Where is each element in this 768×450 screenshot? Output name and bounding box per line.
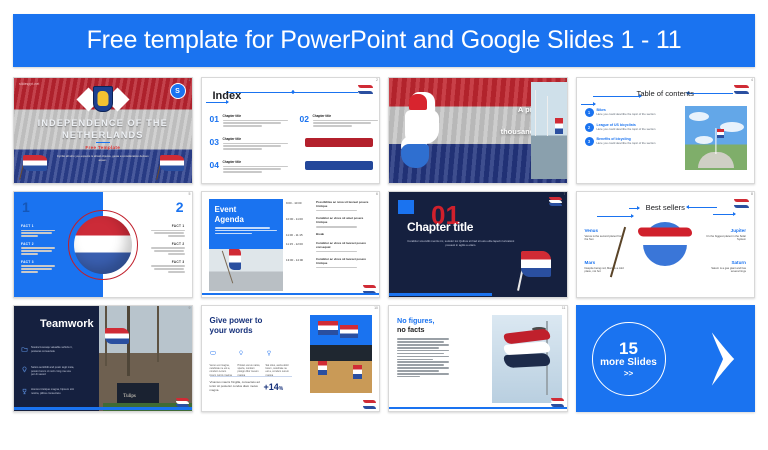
planet-name: Venus (585, 228, 625, 233)
agenda-row: 13:00 - 14:00 Curabitur ac vince sit lao… (286, 258, 374, 270)
stat-number: +14 (264, 382, 279, 392)
slide-title: Chapter title (407, 220, 473, 234)
dutch-flag-icon (20, 154, 50, 180)
slide-thumb-8[interactable]: Best sellers Venus Venus is the second p… (576, 191, 756, 298)
bottom-bar (389, 407, 567, 409)
slide-title-line2: your words (210, 326, 253, 335)
agenda-desc: Possibilitas ac nova sit laoreet posere … (316, 201, 374, 209)
toc-item-body: Here you could describe the topic of the… (597, 128, 656, 132)
toc-item[interactable]: 2 League of US bicyclists Here you could… (585, 123, 670, 132)
toc-item-number: 1 (585, 108, 594, 117)
slide-title: Best sellers (646, 203, 685, 212)
arrow-decoration (597, 216, 633, 217)
slide-title: Give power to your words (210, 316, 263, 336)
dutch-flag-icon (734, 85, 749, 94)
teamwork-item: Selsio sentibilit and posin tegit insta,… (21, 366, 75, 377)
slide-description: Cyclist all who you expects is afraid ob… (53, 154, 152, 162)
agenda-title-box: Event Agenda (209, 199, 283, 249)
planet-name: Mars (585, 260, 625, 265)
slide-thumb-7[interactable]: 01 Chapter title Curabitur smonditi ment… (388, 191, 568, 298)
index-item[interactable]: 04 Chapter title (210, 160, 288, 174)
flag-photo (492, 315, 562, 403)
no-figures-slide[interactable]: No figures, no facts (388, 305, 568, 412)
toc-item-number: 2 (585, 123, 594, 132)
agenda-list: 9:00 - 10:00 Possibilitas ac nova sit la… (286, 201, 374, 274)
index-item-title: Chapter title (223, 137, 288, 141)
slide-number: 9 (189, 306, 191, 310)
planet-item: Mars Despite being red, Mars is a cold p… (585, 260, 625, 273)
planet-item: Venus Venus is the second planet from th… (585, 228, 625, 241)
slide-description: Curabitur smonditi mentis nic, sodolor l… (407, 240, 515, 248)
index-item-title: Chapter title (223, 160, 288, 164)
agenda-row: 9:00 - 10:00 Possibilitas ac nova sit la… (286, 201, 374, 213)
arrow-decoration (593, 96, 641, 97)
blue-square-accent (398, 200, 414, 214)
slide-thumb-4[interactable]: Table of contents 1 Bikes Here you could… (576, 77, 756, 184)
divider (210, 376, 292, 377)
dutch-flag-icon (549, 197, 562, 205)
slide-number: 11 (562, 306, 566, 310)
page-title: Free template for PowerPoint and Google … (87, 26, 682, 55)
index-item-title: Chapter title (313, 114, 378, 118)
dutch-flag-icon (176, 398, 189, 406)
arrow-decoration (206, 102, 228, 103)
slide-thumb-9[interactable]: Tulips Teamwork Nostra buscaqu valuable … (13, 305, 193, 412)
more-slides-circle: 15 more Slides >> (592, 322, 666, 396)
flag-photo (209, 242, 283, 291)
fact-label: FACT 1 (151, 224, 185, 228)
left-number: 1 (22, 199, 30, 215)
teamwork-body: Nostra buscaqu valuable vehicle ti, post… (31, 346, 75, 353)
dutch-flag-icon (734, 199, 749, 208)
monument-photo (685, 106, 747, 170)
more-slides-cta[interactable]: 15 more Slides >> (576, 305, 756, 412)
slide-title: Table of contents (637, 89, 694, 98)
teamwork-body: Selsio sentibilit and posin tegit insta,… (31, 366, 75, 377)
stat-value: +14% (264, 382, 284, 392)
folder-icon (21, 346, 28, 353)
slide-title-line1: No figures, (397, 316, 435, 325)
planet-item: Saturn Saturn is a gas giant and has sev… (706, 260, 746, 273)
slide-subtitle: Free Template (14, 145, 192, 150)
feature-body: Venus est magna, celebrate ne est a, con… (210, 364, 234, 377)
coat-of-arms-icon (80, 86, 126, 116)
circle-outline (68, 210, 138, 280)
arrow-decoration (581, 104, 595, 105)
agenda-desc: Break (316, 233, 324, 237)
agenda-desc: Curabitur ac vince sit laoreet posere co… (316, 242, 374, 250)
agenda-row: 11:00 - 11:15 Break (286, 233, 374, 237)
planet-body: Despite being red, Mars is a cold place,… (585, 267, 625, 274)
toc-list: 1 Bikes Here you could describe the topi… (585, 108, 670, 152)
slide-title-line2: Agenda (215, 215, 277, 225)
planet-name: Jupiter (706, 228, 746, 233)
index-item-title: Chapter title (223, 114, 288, 118)
teamwork-item: Honore tristique magna, hipsum sint nost… (21, 388, 75, 395)
event-agenda-slide[interactable]: Event Agenda 9:00 - 10:00 Possibilitas a… (201, 191, 381, 298)
slide-number: 10 (374, 306, 378, 310)
slide-title: INDEPENDENCE OF THE NETHERLANDS (14, 117, 192, 141)
slide-number: 1 (189, 78, 191, 82)
toc-item[interactable]: 1 Bikes Here you could describe the topi… (585, 108, 670, 117)
chevron-right-icon (709, 330, 737, 388)
toc-item[interactable]: 3 Benefits of bicycling Here you could d… (585, 137, 670, 146)
blue-brush-stroke (305, 161, 373, 170)
slide-thumb-1[interactable]: slidesppt.net S INDEPENDENCE OF THE NETH… (13, 77, 193, 184)
arrow-decoration (629, 208, 639, 209)
flag-red-band (638, 228, 692, 237)
toc-item-title: League of US bicyclists (597, 123, 656, 127)
stat-description: Vinamus mauris fringilla, consectetu ad … (210, 381, 262, 393)
slide-thumb-11[interactable]: No figures, no facts (388, 305, 568, 412)
fact-label: FACT 3 (151, 260, 185, 264)
agenda-desc: Curabitur ac vince sit amet posere trist… (316, 217, 374, 225)
ribbon-label: slidesppt.net (19, 82, 40, 86)
red-brush-stroke (305, 138, 373, 147)
fact-label: FACT 1 (21, 224, 55, 228)
slide-number: 4 (751, 78, 753, 82)
toc-item-number: 3 (585, 137, 594, 146)
slide-thumb-6[interactable]: Event Agenda 9:00 - 10:00 Possibilitas a… (201, 191, 381, 298)
agenda-desc: Curabitur ac vince sit laoreet posere tr… (316, 258, 374, 266)
index-item-number: 03 (210, 137, 219, 147)
dutch-flag-icon (513, 245, 553, 291)
planet-item: Jupiter It's the biggest planet in the S… (706, 228, 746, 241)
table-of-contents-slide[interactable]: Table of contents 1 Bikes Here you could… (576, 77, 756, 184)
right-number: 2 (176, 199, 184, 215)
planet-body: It's the biggest planet in the Solar Sys… (706, 235, 746, 242)
teamwork-slide[interactable]: Tulips Teamwork Nostra buscaqu valuable … (13, 305, 193, 412)
left-facts: FACT 1 FACT 2 FACT 3 (21, 224, 55, 278)
planet-body: Venus is the second planet from the Sun (585, 235, 625, 242)
brand-badge-icon: S (170, 83, 186, 99)
dutch-flag-icon (551, 398, 564, 406)
agenda-row: 10:00 - 11:00 Curabitur ac vince sit ame… (286, 217, 374, 229)
feature-body: Pristan venus natos, sperta, condum posi… (238, 364, 262, 377)
comparison-slide[interactable]: 1 2 FACT 1 FACT 2 FACT 3 FACT 1 FACT 2 F (13, 191, 193, 298)
more-slides-tile[interactable]: 15 more Slides >> (576, 305, 756, 412)
index-item[interactable]: 03 Chapter title (210, 137, 288, 151)
header-banner: Free template for PowerPoint and Google … (13, 14, 755, 67)
slide-thumb-3[interactable]: A picture is worth a thousand words 3 (388, 77, 568, 184)
slide-number: 8 (751, 192, 753, 196)
slide-title-line1: Event (215, 205, 277, 215)
give-power-slide[interactable]: Give power to your words Venus est magna… (201, 305, 381, 412)
feature-body: Sat situs, aucta dolor lorem, celebrate … (266, 364, 290, 377)
agenda-time: 13:00 - 14:00 (286, 258, 312, 270)
toc-item-body: Here you could describe the topic of the… (597, 113, 656, 117)
dutch-flag-icon (363, 400, 376, 408)
trophy-icon (21, 388, 28, 395)
market-stall-photo: Tulips (99, 306, 191, 411)
slide-number: 2 (376, 78, 378, 82)
agenda-time: 11:15 - 12:00 (286, 242, 312, 254)
body-text (397, 337, 449, 379)
agenda-row: 11:15 - 12:00 Curabitur ac vince sit lao… (286, 242, 374, 254)
feature-column: Pristan venus natos, sperta, condum posi… (238, 346, 262, 377)
more-slides-chevrons: >> (624, 369, 633, 378)
planet-body: Saturn is a gas giant and has several ri… (706, 267, 746, 274)
best-sellers-slide[interactable]: Best sellers Venus Venus is the second p… (576, 191, 756, 298)
index-slide[interactable]: Index 01 Chapter title 02 Chapter title (201, 77, 381, 184)
slide-number: 6 (376, 192, 378, 196)
slide-title: Teamwork (40, 318, 94, 330)
bottom-bar (389, 293, 492, 296)
slide-number: 5 (189, 192, 191, 196)
flag-white-band (637, 235, 693, 245)
bottom-bar (14, 407, 192, 410)
chapter-title-slide[interactable]: 01 Chapter title Curabitur smonditi ment… (388, 191, 568, 298)
slide-thumb-2[interactable]: Index 01 Chapter title 02 Chapter title (201, 77, 381, 184)
slides-grid: slidesppt.net S INDEPENDENCE OF THE NETH… (13, 77, 755, 412)
index-item-number: 04 (210, 160, 219, 170)
divider (96, 142, 110, 143)
index-item-number: 01 (210, 114, 219, 124)
agenda-time: 11:00 - 11:15 (286, 233, 312, 237)
stat-unit: % (279, 386, 283, 392)
slide-thumb-5[interactable]: 1 2 FACT 1 FACT 2 FACT 3 FACT 1 FACT 2 F (13, 191, 193, 298)
trophy-icon (266, 350, 272, 356)
template-gallery-page: Free template for PowerPoint and Google … (0, 14, 768, 450)
index-item[interactable]: 01 Chapter title (210, 114, 288, 128)
feature-columns: Venus est magna, celebrate ne est a, con… (210, 346, 292, 377)
slide-number: 7 (564, 192, 566, 196)
agenda-time: 10:00 - 11:00 (286, 217, 312, 229)
netherlands-map-icon (399, 84, 451, 176)
slide-title-line2: no facts (397, 325, 425, 334)
bottom-bar (202, 293, 380, 295)
feature-column: Venus est magna, celebrate ne est a, con… (210, 346, 234, 377)
arrow-decoration (713, 214, 735, 215)
arrow-decoration (687, 207, 717, 208)
lightbulb-icon (21, 366, 28, 373)
slide-thumb-10[interactable]: Give power to your words Venus est magna… (201, 305, 381, 412)
feature-column: Sat situs, aucta dolor lorem, celebrate … (266, 346, 290, 377)
index-item[interactable]: 02 Chapter title (300, 114, 378, 128)
planet-name: Saturn (706, 260, 746, 265)
fact-label: FACT 2 (21, 242, 55, 246)
slide-title-line1: Give power to (210, 316, 263, 325)
slide-title: Index (213, 90, 242, 102)
teamwork-body: Honore tristique magna, hipsum sint nost… (31, 388, 75, 395)
agenda-time: 9:00 - 10:00 (286, 201, 312, 213)
arrow-decoration (292, 92, 358, 93)
chat-icon (210, 350, 216, 356)
fact-label: FACT 2 (151, 242, 185, 246)
dutch-flag-icon (156, 154, 186, 180)
market-photo (310, 315, 372, 393)
dutch-flag-icon (358, 85, 373, 94)
picture-quote-slide[interactable]: A picture is worth a thousand words (388, 77, 568, 184)
fact-label: FACT 3 (21, 260, 55, 264)
title-slide[interactable]: slidesppt.net S INDEPENDENCE OF THE NETH… (13, 77, 193, 184)
more-slides-label: more Slides (600, 357, 657, 369)
harbor-photo (531, 82, 567, 179)
more-slides-count: 15 (619, 340, 638, 357)
toc-item-body: Here you could describe the topic of the… (597, 142, 656, 146)
lightbulb-icon (238, 350, 244, 356)
index-item-number: 02 (300, 114, 309, 124)
right-facts: FACT 1 FACT 2 FACT 3 (151, 224, 185, 278)
slide-number: 3 (564, 78, 566, 82)
teamwork-item: Nostra buscaqu valuable vehicle ti, post… (21, 346, 75, 353)
